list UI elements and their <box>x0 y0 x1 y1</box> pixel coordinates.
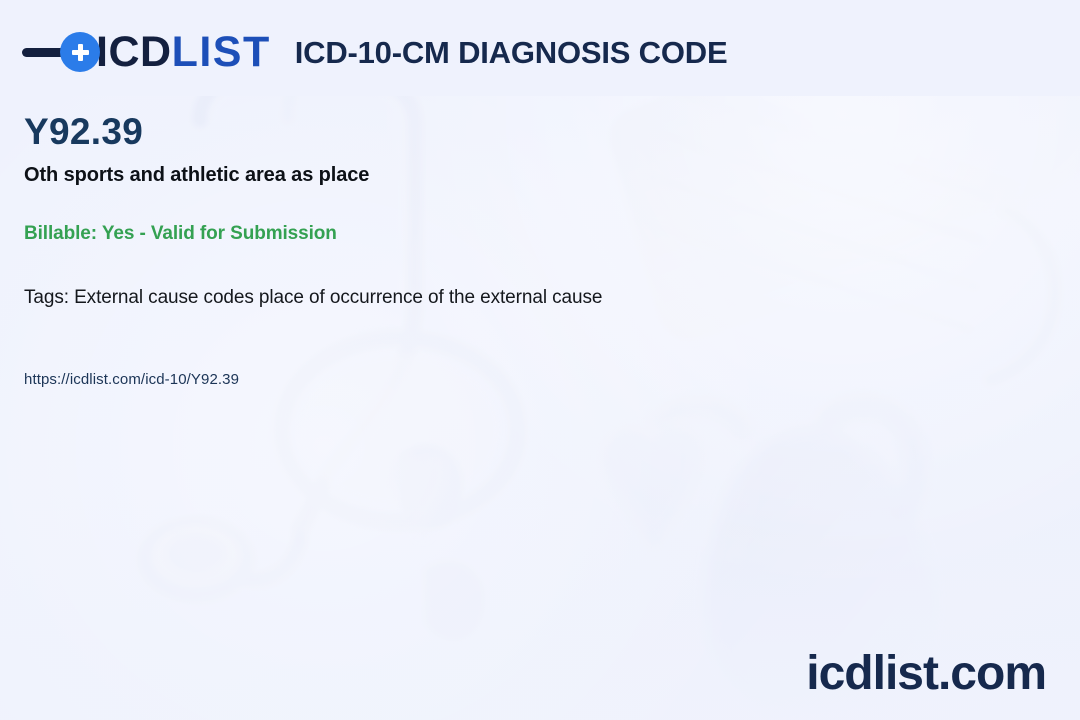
icd-code-card: ICDLIST ICD-10-CM DIAGNOSIS CODE Y92.39 … <box>0 0 1080 720</box>
code-url[interactable]: https://icdlist.com/icd-10/Y92.39 <box>24 371 1024 388</box>
footer-brand: icdlist.com <box>806 650 1046 698</box>
code-tags: Tags: External cause codes place of occu… <box>24 287 1024 309</box>
code-description: Oth sports and athletic area as place <box>24 164 1024 187</box>
diagnosis-code: Y92.39 <box>24 110 1024 154</box>
billable-status: Billable: Yes - Valid for Submission <box>24 223 1024 245</box>
page-title: ICD-10-CM DIAGNOSIS CODE <box>295 37 728 68</box>
icdlist-logo[interactable]: ICDLIST <box>22 26 271 78</box>
logo-word-icd: ICD <box>96 28 172 76</box>
logo-wordmark: ICDLIST <box>96 31 271 74</box>
header: ICDLIST ICD-10-CM DIAGNOSIS CODE <box>22 26 727 78</box>
plus-circle-icon <box>60 32 100 72</box>
code-details: Y92.39 Oth sports and athletic area as p… <box>24 110 1024 388</box>
logo-word-list: LIST <box>172 28 271 76</box>
